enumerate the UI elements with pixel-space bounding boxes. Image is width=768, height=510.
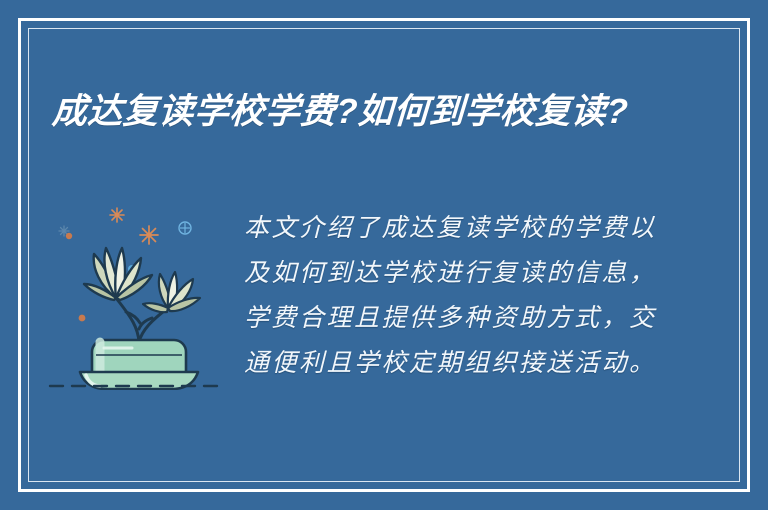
content-row: 本文介绍了成达复读学校的学费以及如何到达学校进行复读的信息，学费合理且提供多种资… xyxy=(40,190,708,460)
page-title: 成达复读学校学费?如何到学校复读? xyxy=(51,85,654,139)
potted-plant-illustration xyxy=(40,190,230,390)
sparkle-dot-blue xyxy=(179,222,191,234)
sparkle-flower-orange xyxy=(140,226,158,244)
sparkle-star-top xyxy=(110,208,124,222)
plant-svg xyxy=(40,190,230,390)
flower-bloom-left xyxy=(84,248,152,300)
accent-dot-upper-left xyxy=(66,233,72,239)
body-paragraph: 本文介绍了成达复读学校的学费以及如何到达学校进行复读的信息，学费合理且提供多种资… xyxy=(244,206,669,386)
poster-canvas: 成达复读学校学费?如何到学校复读? xyxy=(0,0,768,510)
accent-dot-left xyxy=(79,315,86,322)
